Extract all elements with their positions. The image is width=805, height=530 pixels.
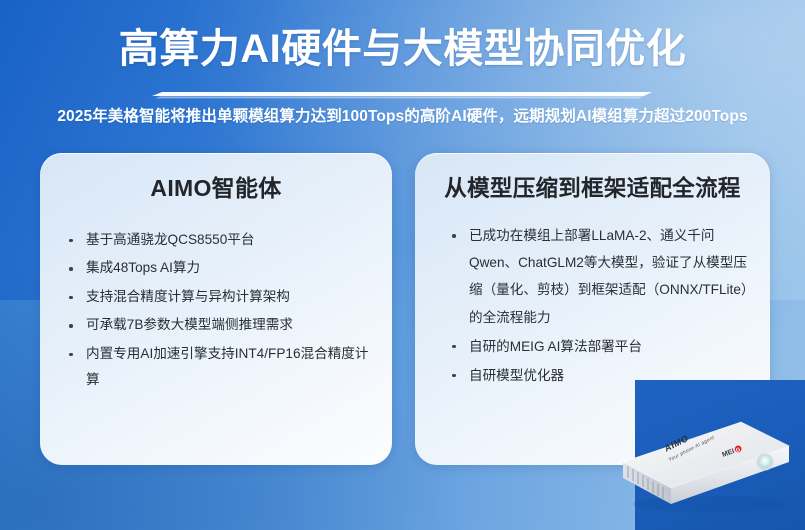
card-title: AIMO智能体	[40, 153, 392, 203]
card-aimo-agent: AIMO智能体 基于高通骁龙QCS8550平台 集成48Tops AI算力 支持…	[40, 153, 392, 465]
list-item: 已成功在模组上部署LLaMA-2、通义千问Qwen、ChatGLM2等大模型，验…	[445, 222, 752, 331]
list-item: 内置专用AI加速引擎支持INT4/FP16混合精度计算	[62, 341, 378, 394]
list-item: 集成48Tops AI算力	[62, 255, 378, 282]
list-item: 基于高通骁龙QCS8550平台	[62, 227, 378, 254]
cards-row: AIMO智能体 基于高通骁龙QCS8550平台 集成48Tops AI算力 支持…	[40, 153, 770, 465]
card-bullet-list: 基于高通骁龙QCS8550平台 集成48Tops AI算力 支持混合精度计算与异…	[40, 227, 392, 394]
list-item: 自研的MEIG AI算法部署平台	[445, 333, 752, 360]
card-bullet-list: 已成功在模组上部署LLaMA-2、通义千问Qwen、ChatGLM2等大模型，验…	[415, 222, 770, 389]
title-divider	[152, 92, 652, 99]
list-item: 自研模型优化器	[445, 362, 752, 389]
list-item: 支持混合精度计算与异构计算架构	[62, 284, 378, 311]
device-brand-text: AIMO	[0, 0, 1, 1]
device-tagline-text: Your phone AI agent	[0, 0, 1, 1]
page-subtitle: 2025年美格智能将推出单颗模组算力达到100Tops的高阶AI硬件，远期规划A…	[0, 104, 805, 126]
device-subbrand-text: MEIG	[0, 0, 1, 1]
slide-canvas: 高算力AI硬件与大模型协同优化 2025年美格智能将推出单颗模组算力达到100T…	[0, 0, 805, 530]
card-title: 从模型压缩到框架适配全流程	[415, 153, 770, 202]
page-title: 高算力AI硬件与大模型协同优化	[0, 26, 805, 72]
slide-header: 高算力AI硬件与大模型协同优化 2025年美格智能将推出单颗模组算力达到100T…	[0, 26, 805, 72]
list-item: 可承载7B参数大模型端侧推理需求	[62, 312, 378, 339]
vent-slits	[628, 466, 663, 499]
card-compression-pipeline: 从模型压缩到框架适配全流程 已成功在模组上部署LLaMA-2、通义千问Qwen、…	[415, 153, 770, 465]
